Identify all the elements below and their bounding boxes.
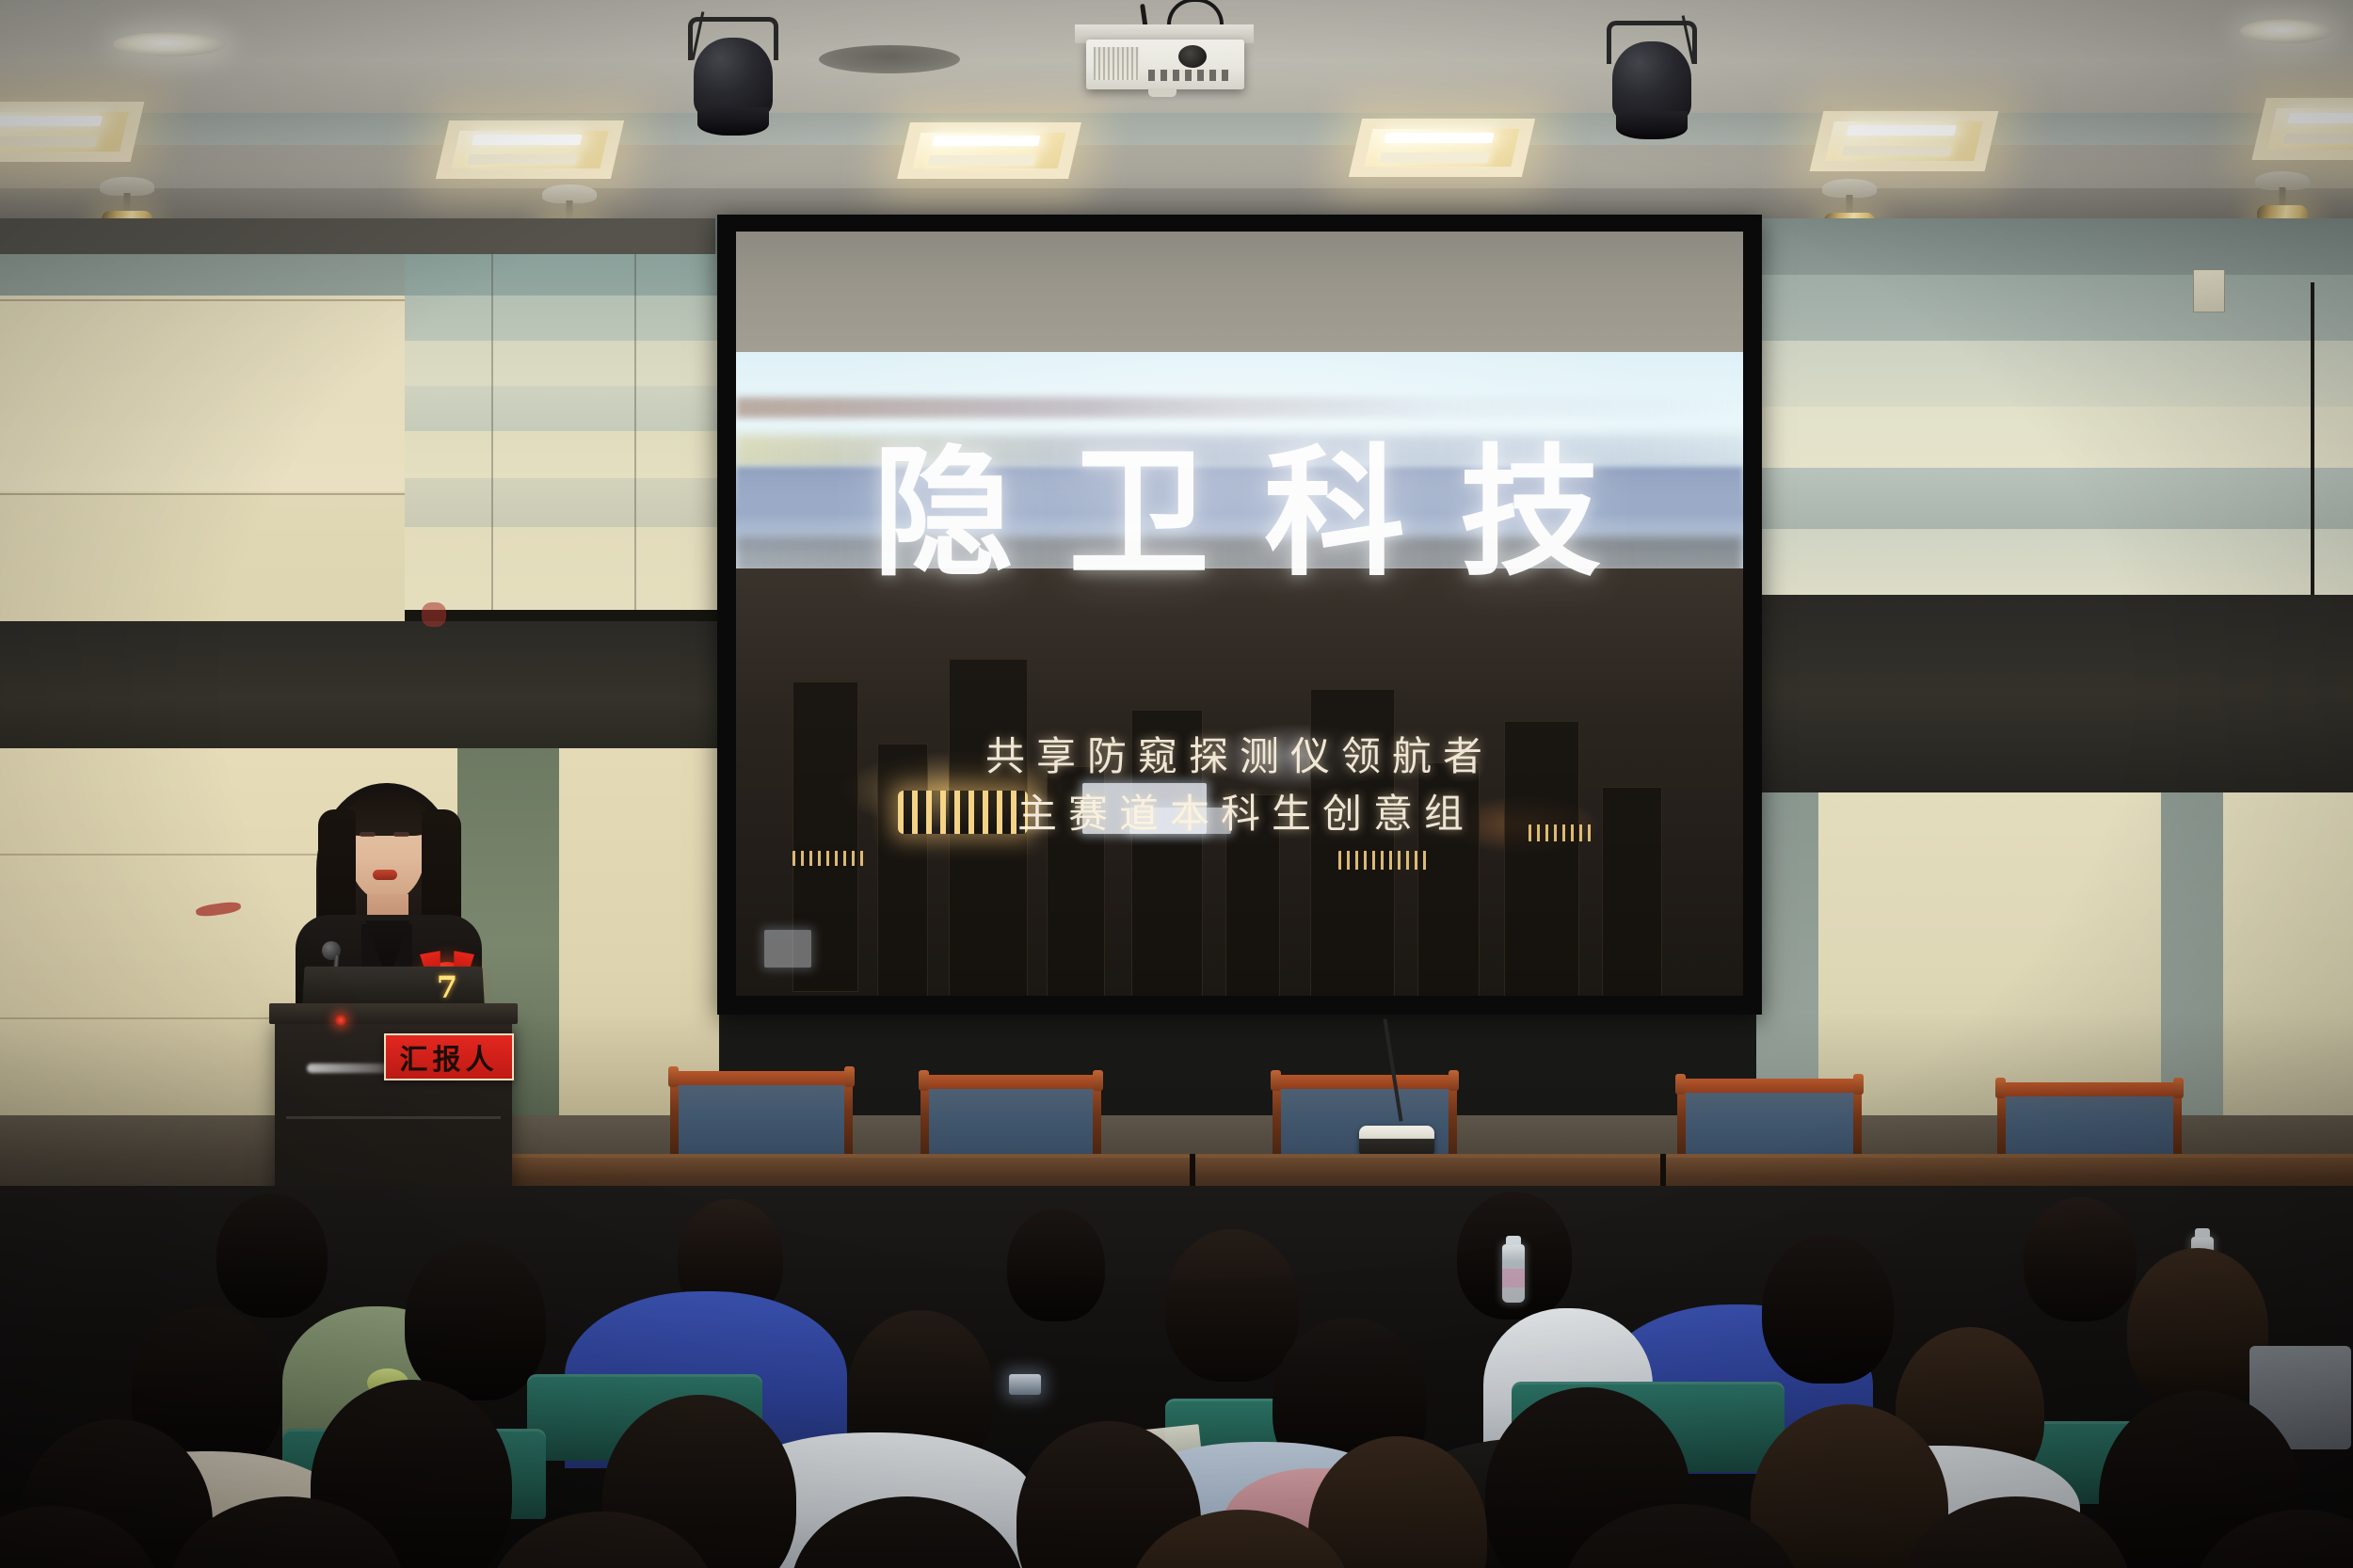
- presenter-mouth: [373, 870, 397, 880]
- audience-head: [2127, 1248, 2268, 1408]
- wall-panel-banded-left: [405, 254, 717, 631]
- podium-ledge: [269, 1003, 518, 1024]
- stage-chair: [1677, 1079, 1862, 1165]
- audience-head: [1007, 1208, 1105, 1321]
- audience-head: [405, 1242, 546, 1400]
- auditorium-photo: 隐 卫 科 技 共享防窥探测仪领航者 主赛道本科生创意组: [0, 0, 2353, 1568]
- wall-cable: [2311, 282, 2314, 602]
- slide-title-char: 科: [1264, 442, 1411, 584]
- wall-dark-band-left: [0, 621, 717, 762]
- wall-trim-left: [405, 610, 717, 621]
- podium-shelf-line: [286, 1116, 501, 1119]
- audience-head: [1165, 1229, 1299, 1382]
- screen-blank-area: [736, 232, 1743, 352]
- podium-sign-presenter: 汇报人: [384, 1033, 514, 1080]
- audience-head: [1762, 1235, 1894, 1384]
- slide-subtitle-line-2: 主赛道本科生创意组: [736, 786, 1743, 843]
- audience-area: [0, 1186, 2353, 1568]
- ceiling-panel-light: [1349, 119, 1535, 177]
- screen-surface: 隐 卫 科 技 共享防窥探测仪领航者 主赛道本科生创意组: [736, 232, 1743, 996]
- slide-title-char: 技: [1460, 442, 1607, 584]
- recessed-spot-light: [2240, 19, 2334, 43]
- audience-head: [216, 1193, 328, 1318]
- slide-subtitle-line-1: 共享防窥探测仪领航者: [736, 728, 1743, 786]
- recessed-spot-light: [113, 32, 226, 56]
- ceiling-vent: [819, 45, 960, 73]
- projection-screen: 隐 卫 科 技 共享防窥探测仪领航者 主赛道本科生创意组: [717, 215, 1762, 1015]
- ceiling-panel-light: [436, 120, 624, 179]
- slide-subtitle: 共享防窥探测仪领航者 主赛道本科生创意组: [736, 728, 1743, 843]
- water-bottle: [1502, 1244, 1525, 1303]
- stage-chair: [920, 1075, 1101, 1163]
- ceiling-beam: [0, 113, 2353, 145]
- ceiling-panel-light: [0, 102, 144, 162]
- presenter-eye: [360, 832, 376, 837]
- presentation-slide: 隐 卫 科 技 共享防窥探测仪领航者 主赛道本科生创意组: [736, 352, 1743, 996]
- podium-sign-label: 汇报人: [400, 1036, 499, 1078]
- stage-chair: [670, 1071, 853, 1161]
- microphone-indicator-led: [335, 1015, 346, 1026]
- stage-spotlight-icon: [1600, 21, 1704, 145]
- wall-dark-band-right: [1756, 595, 2353, 792]
- slide-title-char: 隐: [872, 442, 1019, 584]
- ceiling-projector: [1080, 17, 1259, 105]
- phone-screen: [1009, 1374, 1041, 1395]
- power-outlet: [2193, 269, 2225, 312]
- ceiling-panel-light: [897, 122, 1081, 179]
- ceiling-panel-light: [1810, 111, 1999, 171]
- badge-number: 7: [437, 969, 457, 1005]
- wall-scuff-mark: [422, 602, 446, 627]
- ceiling-panel-light: [2251, 98, 2353, 160]
- slide-title: 隐 卫 科 技: [736, 442, 1743, 584]
- audience-head: [2024, 1197, 2137, 1321]
- presenter-eye: [393, 832, 409, 837]
- white-av-device: [1359, 1126, 1434, 1158]
- stage-spotlight-icon: [681, 17, 785, 141]
- slide-title-char: 卫: [1068, 442, 1215, 584]
